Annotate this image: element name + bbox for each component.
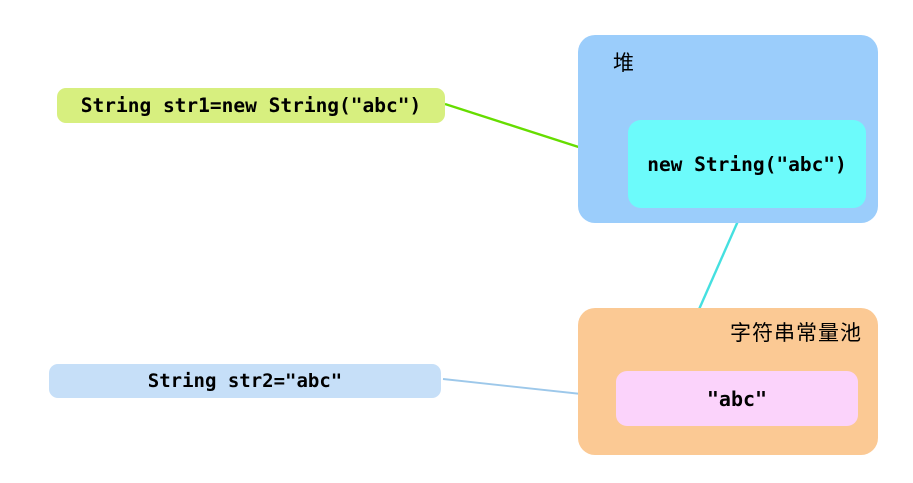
code-chip-str2[interactable]: String str2="abc" — [49, 364, 441, 398]
heap-object-new-string[interactable]: new String("abc") — [628, 120, 866, 208]
diagram-canvas: String str1=new String("abc") String str… — [0, 0, 913, 483]
heap-region[interactable]: 堆 new String("abc") — [578, 35, 878, 223]
heap-region-title: 堆 — [613, 53, 634, 74]
string-constant-pool-region[interactable]: 字符串常量池 "abc" — [578, 308, 878, 455]
string-constant-pool-title: 字符串常量池 — [730, 323, 862, 344]
pool-literal-abc[interactable]: "abc" — [616, 371, 858, 426]
code-chip-str1[interactable]: String str1=new String("abc") — [57, 88, 445, 123]
